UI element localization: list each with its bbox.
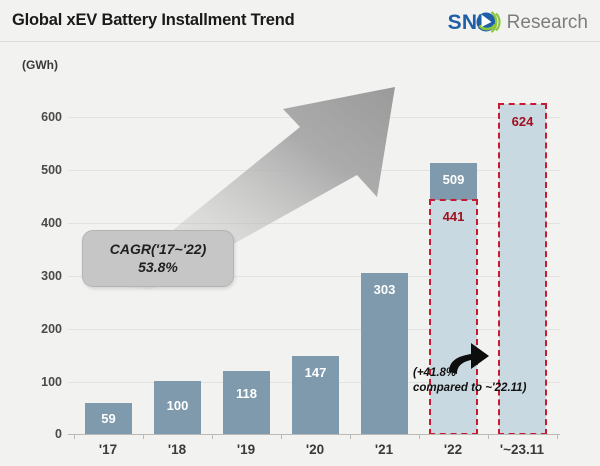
bar-17: 59 xyxy=(85,403,132,434)
gridline-600 xyxy=(68,117,560,118)
xtick-label-21: '21 xyxy=(349,442,419,457)
xtick-label-18: '18 xyxy=(142,442,212,457)
growth-comparison-line2: compared to ~'22.11) xyxy=(413,381,526,396)
growth-comparison-line1: (+41.8% xyxy=(413,366,526,381)
ytick-label-600: 600 xyxy=(18,110,62,124)
ytick-label-100: 100 xyxy=(18,375,62,389)
x-axis-tick-3 xyxy=(281,434,282,439)
xtick-label-20: '20 xyxy=(280,442,350,457)
gridline-400 xyxy=(68,223,560,224)
x-axis-tick-4 xyxy=(350,434,351,439)
ytick-label-400: 400 xyxy=(18,216,62,230)
x-axis-tick-6 xyxy=(488,434,489,439)
x-axis-tick-7 xyxy=(557,434,558,439)
growth-comparison-annotation: (+41.8% compared to ~'22.11) xyxy=(413,366,526,396)
cagr-callout-line2: 53.8% xyxy=(138,259,178,277)
cagr-callout: CAGR('17~'22) 53.8% xyxy=(82,230,234,287)
ytick-label-300: 300 xyxy=(18,269,62,283)
xtick-label-22: '22 xyxy=(418,442,488,457)
x-axis-tick-1 xyxy=(143,434,144,439)
bar-19: 118 xyxy=(223,371,270,434)
bar-value-23-11: 624 xyxy=(500,114,545,129)
x-axis-line xyxy=(68,434,560,435)
bar-value-21: 303 xyxy=(361,282,408,297)
ytick-label-500: 500 xyxy=(18,163,62,177)
gridline-500 xyxy=(68,170,560,171)
ytick-label-200: 200 xyxy=(18,322,62,336)
cagr-callout-line1: CAGR('17~'22) xyxy=(110,241,207,259)
bar-value-20: 147 xyxy=(292,365,339,380)
x-axis-tick-5 xyxy=(419,434,420,439)
ytick-label-0: 0 xyxy=(18,427,62,441)
xtick-label-23-11: '~23.11 xyxy=(487,442,557,457)
xtick-label-19: '19 xyxy=(211,442,281,457)
bar-20: 147 xyxy=(292,356,339,434)
bar-value-17: 59 xyxy=(85,411,132,426)
bar-22: 509 xyxy=(430,163,477,200)
xtick-label-17: '17 xyxy=(73,442,143,457)
bar-21: 303 xyxy=(361,273,408,434)
x-axis-tick-2 xyxy=(212,434,213,439)
highlight-box-22-jan-nov: 441 xyxy=(429,199,478,435)
bar-value-22-partial: 441 xyxy=(431,209,476,224)
x-axis-tick-0 xyxy=(74,434,75,439)
bar-18: 100 xyxy=(154,381,201,434)
bar-value-18: 100 xyxy=(154,398,201,413)
chart-plot-area: 600 500 400 300 200 100 0 59 100 118 xyxy=(0,0,600,466)
bar-value-22: 509 xyxy=(430,172,477,187)
bar-value-19: 118 xyxy=(223,386,270,401)
